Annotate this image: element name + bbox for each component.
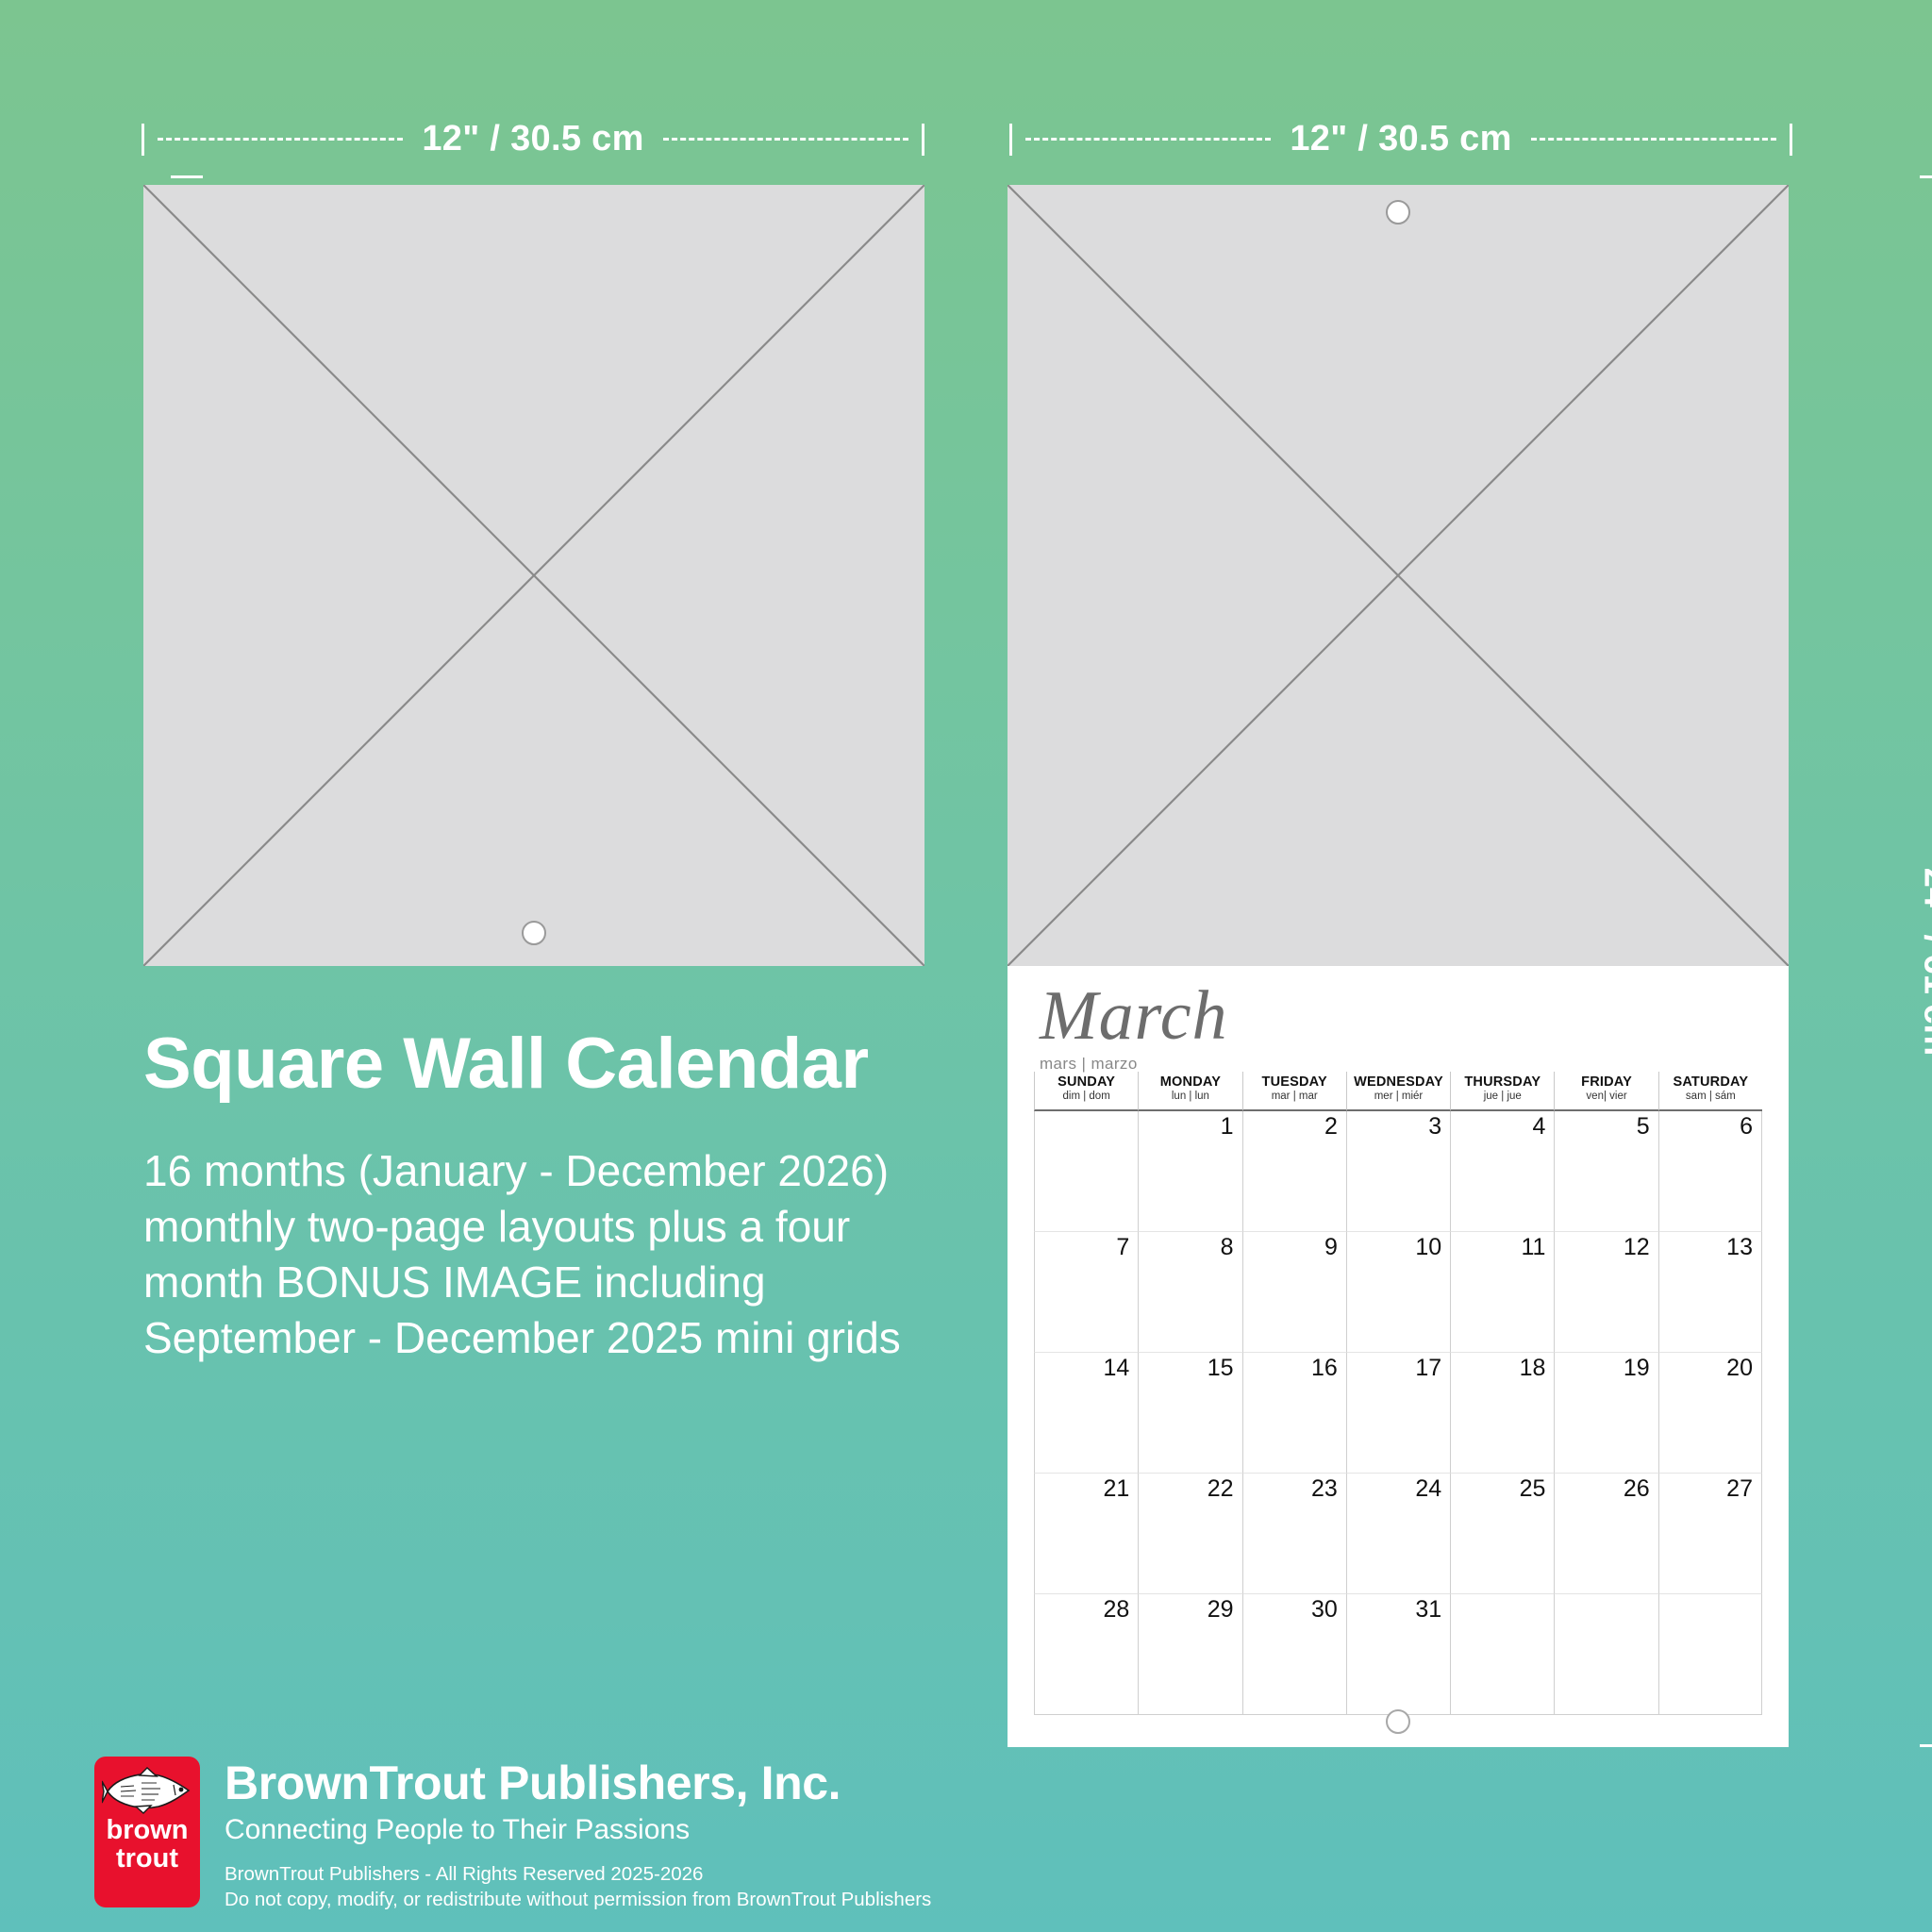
day-number: 23 [1311,1475,1338,1503]
top-image-placeholder [1008,185,1789,966]
day-number: 10 [1415,1234,1441,1261]
calendar-day-cell[interactable]: 28 [1034,1594,1138,1715]
product-copy: Square Wall Calendar 16 months (January … [143,1028,974,1366]
day-number: 8 [1221,1234,1234,1261]
day-number: 22 [1207,1475,1234,1503]
day-header-wednesday: WEDNESDAY mer | miér [1346,1072,1450,1111]
calendar-day-cell[interactable]: 15 [1138,1353,1241,1474]
dimension-dash-left [1025,138,1271,141]
calendar-page: March mars | marzo SUNDAY dim | dom MOND… [1008,966,1789,1747]
description-line: 16 months (January - December 2026) [143,1143,974,1199]
calendar-day-cell[interactable]: 25 [1450,1474,1554,1594]
calendar-day-cell[interactable]: 8 [1138,1232,1241,1353]
brand-footer: brown trout BrownTrout Publishers, Inc. … [94,1757,931,1912]
description-line: September - December 2025 mini grids [143,1310,974,1366]
placeholder-cross-icon [1008,185,1789,966]
month-name: March [1040,981,1228,1051]
day-header-alt: lun | lun [1139,1091,1241,1102]
day-number: 21 [1103,1475,1129,1503]
dimension-right: 24" / 61 cm [1841,175,1932,1747]
day-number: 16 [1311,1355,1338,1382]
calendar-month-heading: March mars | marzo [1040,981,1228,1074]
logo-word-top: brown [107,1817,189,1845]
day-number: 4 [1533,1113,1546,1141]
day-number: 18 [1520,1355,1546,1382]
day-header-tuesday: TUESDAY mar | mar [1242,1072,1346,1111]
legal-line: BrownTrout Publishers - All Rights Reser… [225,1861,931,1887]
day-header-label: FRIDAY [1555,1074,1657,1090]
day-number: 6 [1740,1113,1753,1141]
calendar-day-cell[interactable]: 31 [1346,1594,1450,1715]
calendar-day-cell[interactable]: 17 [1346,1353,1450,1474]
day-number: 26 [1624,1475,1650,1503]
day-number: 20 [1726,1355,1753,1382]
day-number: 17 [1415,1355,1441,1382]
calendar-day-cell[interactable]: 21 [1034,1474,1138,1594]
day-header-label: SATURDAY [1659,1074,1762,1090]
hole-punch [1386,200,1410,225]
calendar-day-cell[interactable]: 26 [1554,1474,1657,1594]
day-number: 11 [1521,1234,1545,1261]
day-number: 7 [1116,1234,1129,1261]
dimension-dash-left [158,138,403,141]
calendar-day-cell[interactable]: 3 [1346,1111,1450,1232]
calendar-day-cell[interactable]: 30 [1242,1594,1346,1715]
day-header-alt: mar | mar [1243,1091,1346,1102]
day-header-label: MONDAY [1139,1074,1241,1090]
day-header-alt: jue | jue [1451,1091,1554,1102]
calendar-day-cell[interactable]: 13 [1658,1232,1762,1353]
calendar-day-cell[interactable] [1450,1594,1554,1715]
day-header-sunday: SUNDAY dim | dom [1034,1072,1138,1111]
day-number: 19 [1624,1355,1650,1382]
description-line: monthly two-page layouts plus a four [143,1199,974,1255]
dimension-dash-right [663,138,908,141]
day-number: 15 [1207,1355,1234,1382]
day-number: 9 [1324,1234,1338,1261]
dimension-top-right: 12" / 30.5 cm [1009,119,1792,159]
dimension-top-left-label: 12" / 30.5 cm [416,119,649,159]
month-name-translations: mars | marzo [1040,1055,1228,1074]
brand-name: BrownTrout Publishers, Inc. [225,1758,931,1808]
day-header-alt: mer | miér [1347,1091,1450,1102]
calendar-day-cell[interactable] [1034,1111,1138,1232]
day-number: 5 [1637,1113,1650,1141]
product-spec-sheet: 12" / 30.5 cm 12" / 30.5 cm 12" / 30.5 c… [0,0,1932,1932]
day-number: 2 [1324,1113,1338,1141]
calendar-day-cell[interactable] [1658,1594,1762,1715]
page-title: Square Wall Calendar [143,1028,974,1100]
calendar-day-cell[interactable]: 16 [1242,1353,1346,1474]
day-header-thursday: THURSDAY jue | jue [1450,1072,1554,1111]
day-header-alt: sam | sám [1659,1091,1762,1102]
hole-punch [522,921,546,945]
dimension-right-label: 24" / 61 cm [1909,867,1932,1056]
browntrout-logo: brown trout [94,1757,200,1907]
calendar-day-cell[interactable]: 6 [1658,1111,1762,1232]
day-number: 25 [1520,1475,1546,1503]
brand-tagline: Connecting People to Their Passions [225,1814,931,1846]
calendar-day-cell[interactable]: 20 [1658,1353,1762,1474]
calendar-day-cell[interactable]: 4 [1450,1111,1554,1232]
dimension-cap-end [922,124,924,156]
calendar-day-cell[interactable]: 5 [1554,1111,1657,1232]
calendar-day-cell[interactable]: 22 [1138,1474,1241,1594]
day-number: 29 [1207,1596,1234,1624]
calendar-day-cell[interactable]: 11 [1450,1232,1554,1353]
day-header-label: WEDNESDAY [1347,1074,1450,1090]
day-number: 28 [1103,1596,1129,1624]
trout-fish-icon [102,1766,192,1815]
calendar-day-cell[interactable]: 12 [1554,1232,1657,1353]
calendar-day-cell[interactable] [1554,1594,1657,1715]
day-header-alt: dim | dom [1035,1091,1138,1102]
calendar-day-cell[interactable]: 7 [1034,1232,1138,1353]
brand-legal: BrownTrout Publishers - All Rights Reser… [225,1861,931,1912]
calendar-day-cell[interactable]: 18 [1450,1353,1554,1474]
day-number: 12 [1624,1234,1650,1261]
dimension-cap-end [1790,124,1792,156]
day-number: 3 [1428,1113,1441,1141]
calendar-day-cell[interactable]: 10 [1346,1232,1450,1353]
calendar-day-cell[interactable]: 9 [1242,1232,1346,1353]
logo-word-bottom: trout [107,1845,189,1874]
calendar-day-cell[interactable]: 24 [1346,1474,1450,1594]
day-header-label: SUNDAY [1035,1074,1138,1090]
legal-line: Do not copy, modify, or redistribute wit… [225,1887,931,1912]
placeholder-cross-icon [143,185,924,966]
day-number: 24 [1415,1475,1441,1503]
calendar-day-cell[interactable]: 29 [1138,1594,1241,1715]
day-header-friday: FRIDAY ven| vier [1554,1072,1657,1111]
dimension-dash-right [1531,138,1776,141]
product-description: 16 months (January - December 2026) mont… [143,1143,974,1366]
description-line: month BONUS IMAGE including [143,1255,974,1310]
day-number: 27 [1726,1475,1753,1503]
day-number: 1 [1221,1113,1234,1141]
calendar-day-cell[interactable]: 19 [1554,1353,1657,1474]
day-number: 13 [1726,1234,1753,1261]
calendar-day-cell[interactable]: 14 [1034,1353,1138,1474]
hole-punch [1386,1709,1410,1734]
day-number: 14 [1103,1355,1129,1382]
day-header-saturday: SATURDAY sam | sám [1658,1072,1762,1111]
day-header-label: THURSDAY [1451,1074,1554,1090]
dimension-cap-top [171,175,203,178]
dimension-top-right-label: 12" / 30.5 cm [1284,119,1517,159]
calendar-day-cell[interactable]: 1 [1138,1111,1241,1232]
dimension-cap-start [1009,124,1012,156]
calendar-day-cell[interactable]: 23 [1242,1474,1346,1594]
dimension-cap-bottom [1920,1744,1932,1747]
calendar-day-cell[interactable]: 27 [1658,1474,1762,1594]
day-header-label: TUESDAY [1243,1074,1346,1090]
day-number: 31 [1415,1596,1441,1624]
cover-image-placeholder [143,185,924,966]
dimension-top-left: 12" / 30.5 cm [142,119,924,159]
calendar-grid: SUNDAY dim | dom MONDAY lun | lun TUESDA… [1034,1072,1762,1715]
day-number: 30 [1311,1596,1338,1624]
dimension-cap-start [142,124,144,156]
day-header-monday: MONDAY lun | lun [1138,1072,1241,1111]
dimension-cap-top [1920,175,1932,178]
calendar-day-cell[interactable]: 2 [1242,1111,1346,1232]
logo-wordmark: brown trout [107,1817,189,1873]
day-header-alt: ven| vier [1555,1091,1657,1102]
brand-text-block: BrownTrout Publishers, Inc. Connecting P… [225,1757,931,1912]
